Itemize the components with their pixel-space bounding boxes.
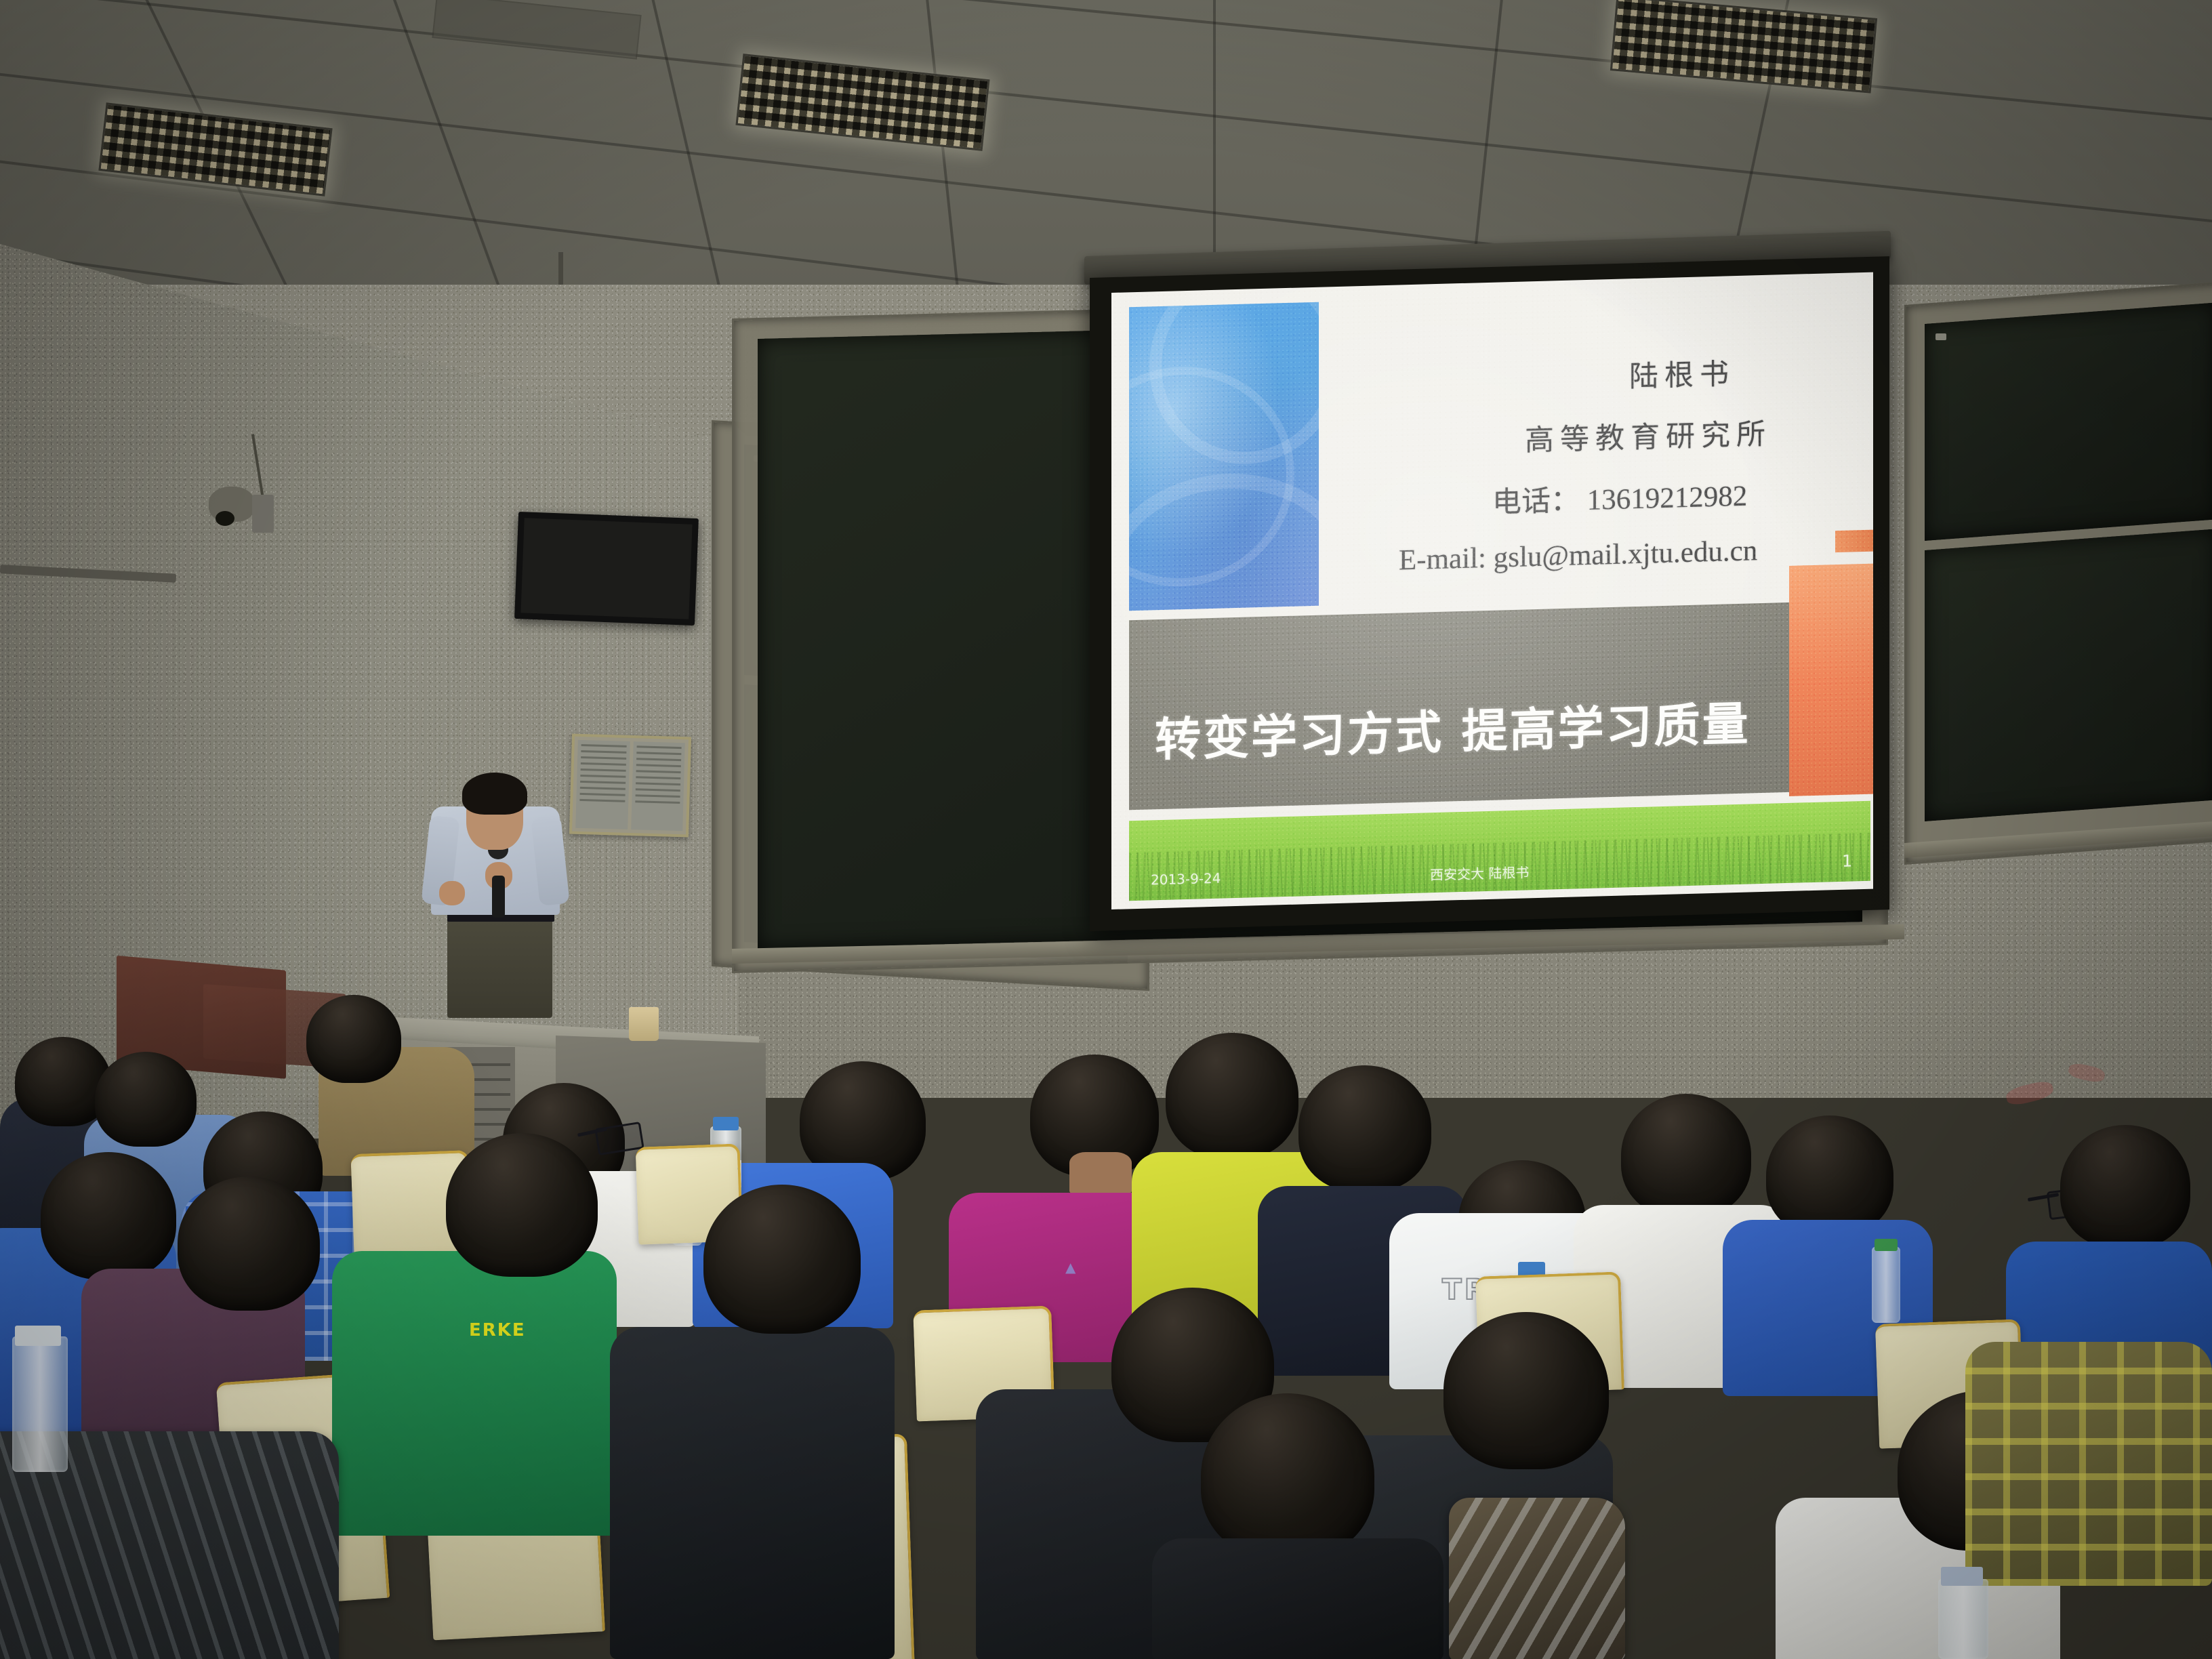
slide-footer-date: 2013-9-24 <box>1151 870 1221 888</box>
slide-green-band <box>1129 801 1870 901</box>
slide-blue-image-block <box>1129 302 1319 611</box>
camera-mount <box>252 495 274 533</box>
student-head <box>703 1185 861 1334</box>
student-head <box>446 1133 598 1277</box>
chalk-mark <box>1935 333 1946 340</box>
notice-sheet <box>631 741 685 831</box>
slide-phone: 电话： 13619212982 <box>1492 472 1747 521</box>
bottle-cap <box>1875 1239 1898 1251</box>
water-bottle[interactable] <box>12 1336 68 1472</box>
student-green-erke-jacket <box>332 1251 617 1536</box>
presenter-legs <box>447 916 552 1018</box>
student-head <box>1621 1094 1751 1217</box>
student-head <box>2060 1125 2190 1248</box>
slide-footer-center: 西安交大 陆根书 <box>1430 861 1529 884</box>
notice-board[interactable] <box>569 734 691 838</box>
slide-orange-tab <box>1835 529 1873 552</box>
classroom-scene: 陆根书 高等教育研究所 电话： 13619212982 E-mail: gslu… <box>0 0 2212 1659</box>
student-black-puffer <box>610 1327 895 1659</box>
shirt-logo: ▲ <box>1065 1259 1076 1275</box>
student-neck <box>1069 1152 1132 1194</box>
paper-cup[interactable] <box>629 1007 659 1041</box>
student-front-center-dark <box>1152 1538 1443 1659</box>
backpack[interactable] <box>1449 1498 1625 1659</box>
student-head <box>178 1176 320 1311</box>
water-bottle[interactable] <box>1872 1247 1900 1323</box>
slide-affiliation: 高等教育研究所 <box>1525 411 1771 459</box>
chalkboard-panel <box>1925 529 2212 821</box>
slide-orange-block <box>1789 564 1873 796</box>
microphone[interactable] <box>492 876 505 918</box>
slide-presenter-name: 陆根书 <box>1629 350 1735 395</box>
slide-email: E-mail: gslu@mail.xjtu.edu.cn <box>1399 534 1757 577</box>
student-head <box>1166 1033 1298 1159</box>
water-bottle[interactable] <box>1938 1579 1988 1659</box>
presentation-slide[interactable]: 陆根书 高等教育研究所 电话： 13619212982 E-mail: gslu… <box>1111 272 1873 909</box>
bottle-cap <box>1941 1567 1983 1586</box>
student-head <box>1201 1393 1374 1559</box>
student-head <box>1443 1312 1609 1469</box>
presenter-hand-left <box>439 881 465 905</box>
jacket-logo-erke: ERKE <box>469 1320 526 1340</box>
bottle-cap <box>713 1117 739 1130</box>
student-head <box>1298 1065 1431 1191</box>
presenter-hair <box>462 773 527 815</box>
student-head <box>95 1052 197 1147</box>
student-head <box>1766 1115 1893 1236</box>
bottle-cap <box>15 1326 61 1346</box>
student-yellow-plaid <box>1965 1342 2212 1586</box>
student-head <box>41 1152 176 1279</box>
chalkboard-panel <box>1925 302 2212 541</box>
student-head <box>306 995 401 1083</box>
wall-mounted-display[interactable] <box>514 512 699 626</box>
notice-sheet <box>575 740 630 829</box>
slide-footer-page-number: 1 <box>1842 851 1852 870</box>
camera-lens-icon <box>216 511 234 526</box>
